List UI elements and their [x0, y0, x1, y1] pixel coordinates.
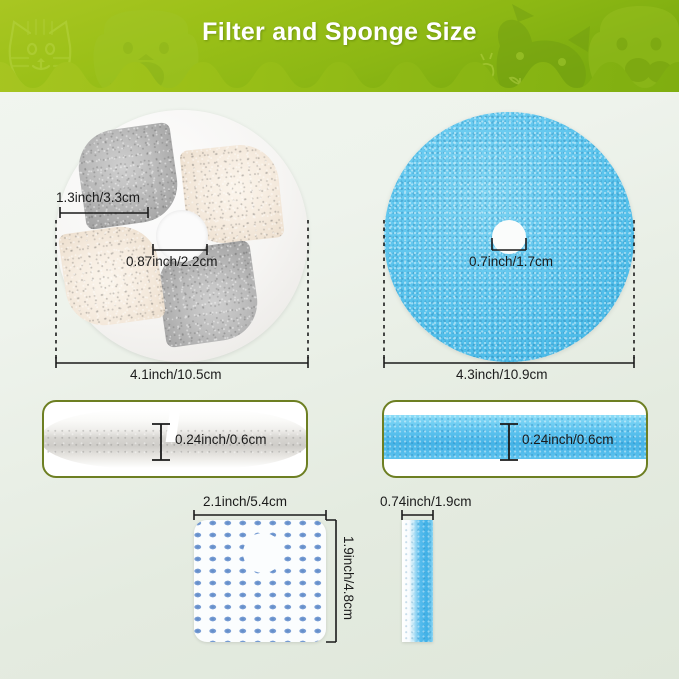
label-strip-width: 0.74inch/1.9cm: [380, 494, 472, 509]
sponge-disc-measure-lines: [376, 104, 656, 376]
label-pad-width: 2.1inch/5.4cm: [203, 494, 287, 509]
square-pad-panel: 2.1inch/5.4cm 1.9inch/4.8cm: [186, 498, 366, 658]
carbon-filter-measure-lines: [42, 104, 322, 376]
label-pad-height: 1.9inch/4.8cm: [341, 536, 356, 620]
pad-side-measure-lines: [380, 498, 510, 658]
label-outer-diameter: 4.1inch/10.5cm: [130, 367, 222, 382]
carbon-filter-disc-panel: 1.3inch/3.3cm 0.87inch/2.2cm 4.1inch/10.…: [42, 104, 322, 376]
square-pad-measure-lines: [186, 498, 366, 658]
page-title: Filter and Sponge Size: [0, 18, 679, 47]
header-banner: Filter and Sponge Size: [0, 0, 679, 92]
label-sponge-diameter: 4.3inch/10.9cm: [456, 367, 548, 382]
sponge-disc-panel: 0.7inch/1.7cm 4.3inch/10.9cm: [376, 104, 656, 376]
label-sponge-thickness: 0.24inch/0.6cm: [522, 432, 614, 447]
product-size-infographic: Filter and Sponge Size: [0, 0, 679, 679]
label-sponge-center-hole: 0.7inch/1.7cm: [469, 254, 553, 269]
label-center-hole: 0.87inch/2.2cm: [126, 254, 218, 269]
label-wedge-length: 1.3inch/3.3cm: [56, 190, 140, 205]
pad-side-view-panel: 0.74inch/1.9cm: [380, 498, 510, 658]
label-filter-thickness: 0.24inch/0.6cm: [175, 432, 267, 447]
